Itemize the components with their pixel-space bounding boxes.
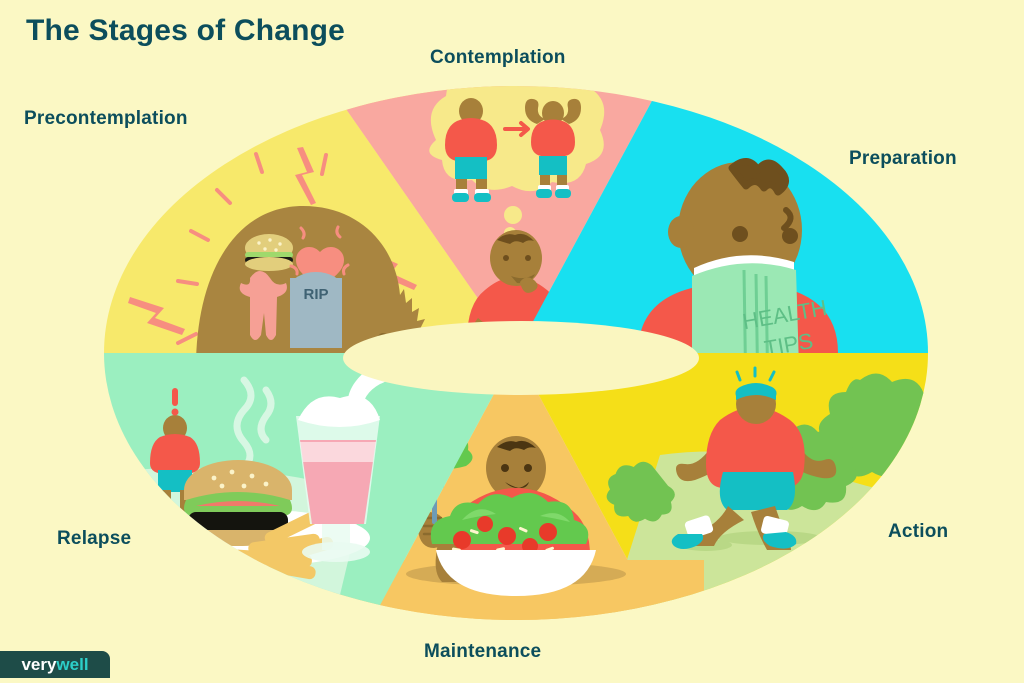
segment-label-preparation[interactable]: Preparation [849, 148, 957, 170]
verywell-logo[interactable]: verywell [0, 651, 110, 678]
segment-label-maintenance[interactable]: Maintenance [424, 641, 541, 663]
logo-text-well: well [56, 656, 88, 673]
burger-icon [245, 234, 293, 271]
logo-text-very: very [21, 656, 56, 673]
wheel-hub [343, 321, 699, 395]
segment-label-precontemplation[interactable]: Precontemplation [24, 108, 188, 130]
tombstone-icon: RIP [290, 272, 342, 348]
exclamation-icon [172, 388, 179, 416]
segment-label-contemplation[interactable]: Contemplation [430, 47, 566, 69]
segment-label-action[interactable]: Action [888, 521, 948, 543]
stages-of-change-wheel: RIP [0, 0, 1024, 678]
svg-text:RIP: RIP [303, 286, 328, 303]
segment-label-relapse[interactable]: Relapse [57, 528, 131, 550]
page-title: The Stages of Change [26, 14, 345, 48]
infographic-canvas: RIP [0, 0, 1024, 678]
